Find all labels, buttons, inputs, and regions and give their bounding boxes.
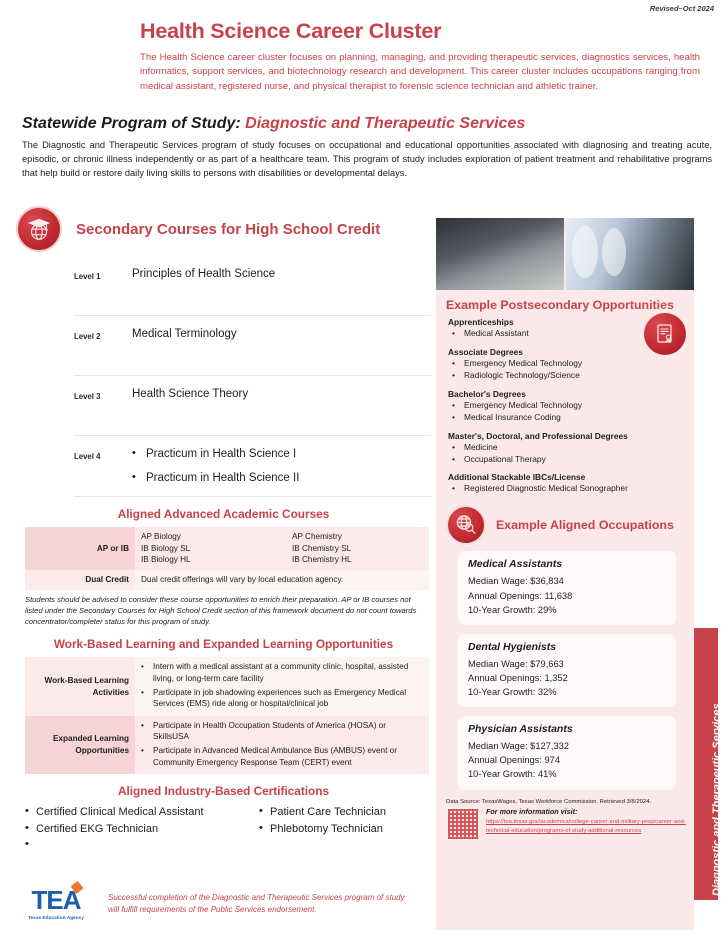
globe-magnifier-icon [446,505,486,545]
group-heading: Additional Stackable IBCs/License [448,472,684,482]
level-course: Health Science Theory [132,388,248,400]
statewide-description: The Diagnostic and Therapeutic Services … [22,139,712,181]
level-tag: Level 4 [74,448,132,461]
qr-code[interactable] [446,807,480,841]
level-row: Level 3 Health Science Theory [74,376,431,436]
annual-openings: Annual Openings: 1,352 [468,671,666,685]
list-item: Certified Clinical Medical Assistant [25,804,253,821]
list-item: Radiologic Technology/Science [448,370,684,382]
wbl-activities-label: Work-Based Learning Activities [25,657,135,716]
postsecondary-group: Additional Stackable IBCs/License Regist… [448,472,684,495]
certifications-column-2: Patient Care Technician Phlebotomy Techn… [259,804,386,837]
occupation-name: Medical Assistants [468,558,666,570]
list-item: Participate in Health Occupation Student… [141,720,423,743]
secondary-courses-title: Secondary Courses for High School Credit [76,221,380,238]
median-wage: Median Wage: $79,663 [468,657,666,671]
list-item: Certified EKG Technician [25,821,253,838]
statewide-program-name: Diagnostic and Therapeutic Services [245,115,525,132]
photo-banner [436,218,694,290]
occupations-title: Example Aligned Occupations [496,518,674,532]
median-wage: Median Wage: $127,332 [468,739,666,753]
postsecondary-group: Master's, Doctoral, and Professional Deg… [448,431,684,466]
graduation-cap-globe-icon [16,206,62,252]
level-row: Level 2 Medical Terminology [74,316,431,376]
occupations-header: Example Aligned Occupations [446,505,694,545]
level-row: Level 4 Practicum in Health Science I Pr… [74,436,431,497]
ap-ib-label: AP or IB [25,527,135,570]
level-tag: Level 2 [74,328,132,341]
expanded-learning-label: Expanded Learning Opportunities [25,716,135,775]
revision-date: Revised–Oct 2024 [650,4,714,13]
dual-credit-label: Dual Credit [25,570,135,590]
side-tab: Diagnostic and Therapeutic Services [694,628,718,900]
tea-logo: TEA Texas Education Agency [18,888,94,920]
endorsement-note: Successful completion of the Diagnostic … [108,892,408,916]
list-item: Emergency Medical Technology [448,400,684,412]
median-wage: Median Wage: $36,834 [468,574,666,588]
level-tag: Level 3 [74,388,132,401]
statewide-section: Statewide Program of Study: Diagnostic a… [22,115,712,181]
side-tab-label: Diagnostic and Therapeutic Services [711,703,723,896]
resources-url-link[interactable]: https://tea.texas.gov/academics/college-… [486,819,686,834]
level-row: Level 1 Principles of Health Science [74,256,431,316]
table-row: Expanded Learning Opportunities Particip… [25,716,429,775]
group-heading: Bachelor's Degrees [448,389,684,399]
level-tag: Level 1 [74,268,132,281]
advanced-courses-title: Aligned Advanced Academic Courses [16,507,431,521]
data-source-note: Data Source: TexasWages, Texas Workforce… [446,799,686,805]
dual-credit-value: Dual credit offerings will vary by local… [135,570,429,590]
list-item: Occupational Therapy [448,454,684,466]
level-course: Medical Terminology [132,328,237,340]
secondary-header: Secondary Courses for High School Credit [16,206,431,252]
level-course: Practicum in Health Science I [132,448,299,460]
more-info-label: For more information visit: [486,807,686,818]
ten-year-growth: 10-Year Growth: 29% [468,603,666,617]
xray-review-photo [566,218,694,290]
group-heading: Associate Degrees [448,347,684,357]
tea-agency-name: Texas Education Agency [18,915,94,920]
ap-ib-column-2: AP Chemistry IB Chemistry SL IB Chemistr… [272,531,423,566]
advanced-courses-table: AP or IB AP Biology IB Biology SL IB Bio… [25,527,429,590]
table-row: AP or IB AP Biology IB Biology SL IB Bio… [25,527,429,570]
list-item: Medical Assistant [448,328,684,340]
more-info-block: For more information visit: https://tea.… [446,807,686,841]
wbl-title: Work-Based Learning and Expanded Learnin… [16,637,431,651]
left-column: Secondary Courses for High School Credit… [16,206,431,837]
tea-footer: TEA Texas Education Agency Successful co… [18,888,408,920]
wbl-activities-values: Intern with a medical assistant at a com… [135,657,429,716]
list-item: Phlebotomy Technician [259,821,386,838]
ap-ib-values: AP Biology IB Biology SL IB Biology HL A… [135,527,429,570]
right-column: Example Postsecondary Opportunities Appr… [436,218,694,930]
annual-openings: Annual Openings: 974 [468,753,666,767]
list-item: Medicine [448,442,684,454]
list-item: Emergency Medical Technology [448,358,684,370]
advanced-courses-note: Students should be advised to consider t… [25,594,422,628]
certifications-list: Certified Clinical Medical Assistant Cer… [25,804,422,837]
level-course: Practicum in Health Science II [132,472,299,484]
program-of-study-page: Revised–Oct 2024 Health Science Career C… [0,0,728,944]
postsecondary-title: Example Postsecondary Opportunities [446,298,694,312]
list-item: Participate in Advanced Medical Ambulanc… [141,745,423,768]
cluster-description: The Health Science career cluster focuse… [140,51,700,95]
table-row: Dual Credit Dual credit offerings will v… [25,570,429,590]
postsecondary-group: Associate Degrees Emergency Medical Tech… [448,347,684,382]
occupation-card: Medical Assistants Median Wage: $36,834 … [458,551,676,624]
list-item: Registered Diagnostic Medical Sonographe… [448,483,684,495]
occupation-name: Dental Hygienists [468,641,666,653]
statewide-heading: Statewide Program of Study: Diagnostic a… [22,115,712,133]
postsecondary-body: Apprenticeships Medical Assistant Associ… [436,317,694,495]
certifications-column-1: Certified Clinical Medical Assistant Cer… [25,804,253,837]
expanded-learning-values: Participate in Health Occupation Student… [135,716,429,775]
wbl-table: Work-Based Learning Activities Intern wi… [25,657,429,774]
occupation-card: Dental Hygienists Median Wage: $79,663 A… [458,634,676,707]
surgical-procedure-photo [436,218,564,290]
list-item: Intern with a medical assistant at a com… [141,661,423,684]
occupation-card: Physician Assistants Median Wage: $127,3… [458,716,676,789]
list-item: Participate in job shadowing experiences… [141,687,423,710]
more-info-text: For more information visit: https://tea.… [486,807,686,841]
level-course: Principles of Health Science [132,268,275,280]
level-course-list: Practicum in Health Science I Practicum … [132,448,299,496]
table-row: Work-Based Learning Activities Intern wi… [25,657,429,716]
ap-ib-column-1: AP Biology IB Biology SL IB Biology HL [141,531,272,566]
tea-wordmark: TEA [32,888,81,913]
ten-year-growth: 10-Year Growth: 32% [468,685,666,699]
list-item: Patient Care Technician [259,804,386,821]
statewide-label: Statewide Program of Study: [22,115,241,132]
levels-table: Level 1 Principles of Health Science Lev… [74,256,431,497]
group-heading: Master's, Doctoral, and Professional Deg… [448,431,684,441]
annual-openings: Annual Openings: 11,638 [468,589,666,603]
list-item: Medical Insurance Coding [448,412,684,424]
postsecondary-group: Bachelor's Degrees Emergency Medical Tec… [448,389,684,424]
certifications-title: Aligned Industry-Based Certifications [16,784,431,798]
document-header: Health Science Career Cluster The Health… [140,20,700,94]
page-title: Health Science Career Cluster [140,20,700,44]
ten-year-growth: 10-Year Growth: 41% [468,767,666,781]
occupation-name: Physician Assistants [468,723,666,735]
